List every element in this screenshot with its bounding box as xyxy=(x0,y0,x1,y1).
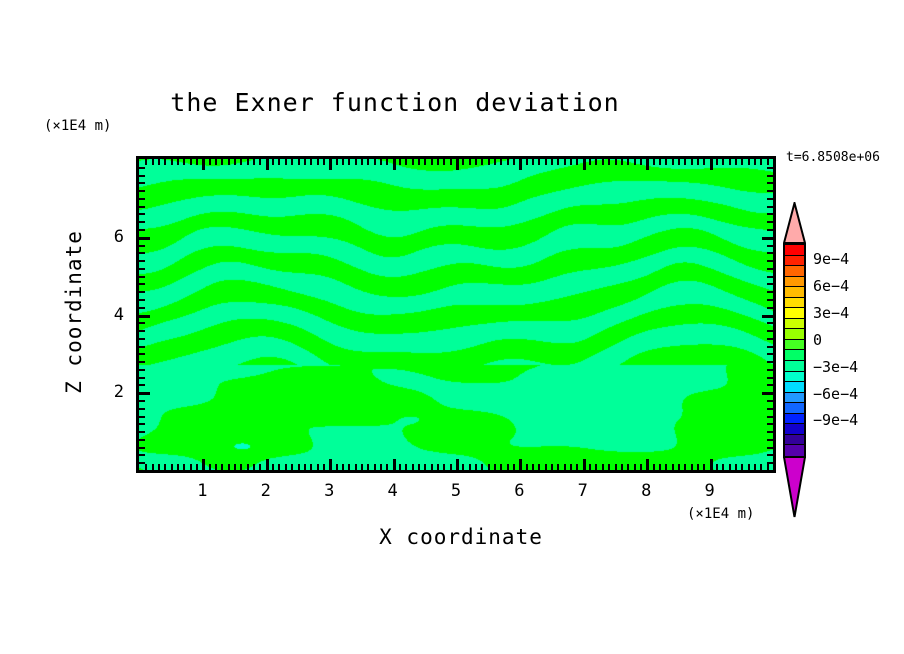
x-axis-top-tick xyxy=(253,159,255,165)
x-axis-top-tick xyxy=(450,159,452,165)
y-axis-right-tick xyxy=(767,447,773,449)
y-axis-right-tick xyxy=(767,198,773,200)
x-axis-minor-tick xyxy=(386,464,388,470)
y-axis-minor-tick xyxy=(139,439,145,441)
colorbar-segment xyxy=(785,287,804,298)
contour-field-canvas xyxy=(139,159,773,470)
colorbar xyxy=(783,243,806,458)
x-axis-top-tick xyxy=(209,159,211,165)
x-axis-top-tick xyxy=(494,159,496,165)
x-axis-top-tick xyxy=(215,159,217,165)
y-axis-minor-tick xyxy=(139,338,145,340)
x-axis-minor-tick xyxy=(253,464,255,470)
x-axis-top-tick xyxy=(190,159,192,165)
x-axis-minor-tick xyxy=(190,464,192,470)
x-axis-top-tick xyxy=(418,159,420,165)
y-axis-right-tick xyxy=(767,361,773,363)
x-axis-minor-tick xyxy=(240,464,242,470)
x-axis-minor-tick xyxy=(703,464,705,470)
colorbar-segment xyxy=(785,329,804,340)
y-axis-right-tick xyxy=(767,307,773,309)
x-axis-top-tick xyxy=(595,159,597,165)
x-axis-top-tick xyxy=(317,159,319,165)
x-axis-top-tick xyxy=(424,159,426,165)
x-axis-minor-tick xyxy=(342,464,344,470)
x-axis-top-tick xyxy=(564,159,566,165)
x-axis-minor-tick xyxy=(374,464,376,470)
x-axis-minor-tick xyxy=(196,464,198,470)
contour-plot-area xyxy=(136,156,776,473)
x-axis-top-tick xyxy=(760,159,762,165)
y-axis-minor-tick xyxy=(139,447,145,449)
colorbar-segment xyxy=(785,319,804,330)
x-axis-minor-tick xyxy=(405,464,407,470)
y-axis-unit-label: (×1E4 m) xyxy=(44,118,111,134)
y-axis-minor-tick xyxy=(139,307,145,309)
y-axis-minor-tick xyxy=(139,175,145,177)
y-axis-minor-tick xyxy=(139,213,145,215)
colorbar-segment xyxy=(785,414,804,425)
y-axis-right-tick xyxy=(767,377,773,379)
x-axis-title: X coordinate xyxy=(256,525,666,549)
x-axis-minor-tick xyxy=(538,464,540,470)
x-axis-top-tick xyxy=(355,159,357,165)
colorbar-segment xyxy=(785,372,804,383)
x-axis-top-tick xyxy=(234,159,236,165)
x-axis-minor-tick xyxy=(278,464,280,470)
x-axis-major-tick xyxy=(202,459,205,470)
x-axis-minor-tick xyxy=(576,464,578,470)
y-axis-right-tick xyxy=(767,283,773,285)
y-axis-minor-tick xyxy=(139,268,145,270)
y-axis-right-tick xyxy=(767,338,773,340)
x-axis-top-tick xyxy=(608,159,610,165)
x-axis-top-tick xyxy=(183,159,185,165)
x-axis-minor-tick xyxy=(513,464,515,470)
x-tick-label: 8 xyxy=(631,481,661,501)
x-axis-top-tick xyxy=(456,159,459,170)
x-axis-top-tick xyxy=(278,159,280,165)
x-axis-minor-tick xyxy=(469,464,471,470)
y-axis-major-tick xyxy=(139,237,150,240)
x-axis-top-tick xyxy=(589,159,591,165)
colorbar-segment xyxy=(785,266,804,277)
y-axis-right-tick xyxy=(767,213,773,215)
x-axis-minor-tick xyxy=(691,464,693,470)
y-axis-right-tick xyxy=(767,369,773,371)
x-axis-top-tick xyxy=(399,159,401,165)
x-axis-minor-tick xyxy=(545,464,547,470)
colorbar-tick-label: −9e−4 xyxy=(813,411,858,429)
y-axis-minor-tick xyxy=(139,400,145,402)
y-axis-right-tick xyxy=(767,423,773,425)
x-axis-top-tick xyxy=(672,159,674,165)
colorbar-bottom-cap-icon xyxy=(783,456,806,518)
x-axis-top-tick xyxy=(348,159,350,165)
y-axis-right-tick xyxy=(767,276,773,278)
x-axis-major-tick xyxy=(393,459,396,470)
x-axis-minor-tick xyxy=(551,464,553,470)
x-axis-top-tick xyxy=(545,159,547,165)
x-axis-minor-tick xyxy=(234,464,236,470)
y-axis-minor-tick xyxy=(139,384,145,386)
colorbar-segment xyxy=(785,340,804,351)
x-axis-minor-tick xyxy=(488,464,490,470)
y-axis-right-tick xyxy=(767,268,773,270)
y-axis-minor-tick xyxy=(139,346,145,348)
x-axis-minor-tick xyxy=(209,464,211,470)
y-axis-right-tick xyxy=(767,353,773,355)
y-axis-right-tick xyxy=(767,330,773,332)
x-axis-unit-label: (×1E4 m) xyxy=(687,506,754,522)
x-axis-major-tick xyxy=(583,459,586,470)
x-axis-top-tick xyxy=(684,159,686,165)
colorbar-segment xyxy=(785,277,804,288)
x-axis-top-tick xyxy=(221,159,223,165)
x-axis-top-tick xyxy=(538,159,540,165)
y-axis-right-tick xyxy=(767,431,773,433)
x-axis-minor-tick xyxy=(462,464,464,470)
x-axis-minor-tick xyxy=(557,464,559,470)
x-axis-minor-tick xyxy=(215,464,217,470)
y-axis-right-tick xyxy=(767,260,773,262)
x-axis-minor-tick xyxy=(729,464,731,470)
y-axis-minor-tick xyxy=(139,245,145,247)
y-axis-minor-tick xyxy=(139,252,145,254)
x-axis-top-tick xyxy=(342,159,344,165)
x-axis-top-tick xyxy=(691,159,693,165)
x-axis-minor-tick xyxy=(665,464,667,470)
colorbar-segment xyxy=(785,245,804,256)
y-axis-minor-tick xyxy=(139,221,145,223)
x-axis-top-tick xyxy=(481,159,483,165)
y-axis-right-tick xyxy=(762,392,773,395)
x-axis-major-tick xyxy=(456,459,459,470)
y-axis-right-tick xyxy=(762,237,773,240)
x-axis-minor-tick xyxy=(475,464,477,470)
y-axis-right-tick xyxy=(767,299,773,301)
colorbar-tick-label: 0 xyxy=(813,331,822,349)
x-axis-minor-tick xyxy=(672,464,674,470)
x-axis-top-tick xyxy=(247,159,249,165)
x-tick-label: 2 xyxy=(251,481,281,501)
colorbar-segment xyxy=(785,435,804,446)
x-axis-major-tick xyxy=(710,459,713,470)
x-axis-top-tick xyxy=(653,159,655,165)
x-axis-minor-tick xyxy=(608,464,610,470)
x-axis-top-tick xyxy=(602,159,604,165)
y-axis-minor-tick xyxy=(139,260,145,262)
x-axis-minor-tick xyxy=(164,464,166,470)
x-axis-minor-tick xyxy=(183,464,185,470)
y-axis-minor-tick xyxy=(139,167,145,169)
y-axis-major-tick xyxy=(139,315,150,318)
y-axis-minor-tick xyxy=(139,291,145,293)
x-axis-top-tick xyxy=(386,159,388,165)
x-axis-minor-tick xyxy=(659,464,661,470)
x-axis-minor-tick xyxy=(532,464,534,470)
x-axis-top-tick xyxy=(323,159,325,165)
x-axis-top-tick xyxy=(513,159,515,165)
colorbar-segment xyxy=(785,350,804,361)
x-axis-minor-tick xyxy=(767,464,769,470)
y-axis-minor-tick xyxy=(139,416,145,418)
colorbar-segment xyxy=(785,298,804,309)
x-axis-top-tick xyxy=(507,159,509,165)
colorbar-segment xyxy=(785,445,804,456)
colorbar-segment xyxy=(785,361,804,372)
x-axis-top-tick xyxy=(374,159,376,165)
y-axis-right-tick xyxy=(767,346,773,348)
x-axis-top-tick xyxy=(329,159,332,170)
x-axis-minor-tick xyxy=(310,464,312,470)
x-axis-minor-tick xyxy=(418,464,420,470)
y-axis-minor-tick xyxy=(139,408,145,410)
y-axis-title: Z coordinate xyxy=(62,212,86,412)
colorbar-segment xyxy=(785,424,804,435)
x-axis-minor-tick xyxy=(684,464,686,470)
x-axis-minor-tick xyxy=(494,464,496,470)
x-axis-top-tick xyxy=(551,159,553,165)
x-axis-top-tick xyxy=(621,159,623,165)
y-axis-right-tick xyxy=(767,229,773,231)
x-axis-major-tick xyxy=(646,459,649,470)
x-axis-top-tick xyxy=(240,159,242,165)
x-axis-top-tick xyxy=(298,159,300,165)
x-axis-top-tick xyxy=(228,159,230,165)
x-axis-minor-tick xyxy=(627,464,629,470)
y-axis-right-tick xyxy=(767,408,773,410)
x-axis-top-tick xyxy=(462,159,464,165)
x-axis-top-tick xyxy=(526,159,528,165)
x-axis-top-tick xyxy=(703,159,705,165)
x-axis-top-tick xyxy=(722,159,724,165)
x-axis-top-tick xyxy=(754,159,756,165)
y-axis-minor-tick xyxy=(139,377,145,379)
x-axis-top-tick xyxy=(640,159,642,165)
x-axis-minor-tick xyxy=(754,464,756,470)
x-axis-minor-tick xyxy=(259,464,261,470)
x-axis-minor-tick xyxy=(298,464,300,470)
y-axis-right-tick xyxy=(767,384,773,386)
x-axis-major-tick xyxy=(329,459,332,470)
x-axis-minor-tick xyxy=(564,464,566,470)
x-axis-top-tick xyxy=(488,159,490,165)
y-axis-minor-tick xyxy=(139,182,145,184)
x-axis-minor-tick xyxy=(653,464,655,470)
x-axis-minor-tick xyxy=(145,464,147,470)
colorbar-tick-label: −3e−4 xyxy=(813,358,858,376)
y-axis-minor-tick xyxy=(139,353,145,355)
x-axis-top-tick xyxy=(171,159,173,165)
y-axis-minor-tick xyxy=(139,206,145,208)
x-axis-top-tick xyxy=(393,159,396,170)
x-tick-label: 1 xyxy=(187,481,217,501)
x-axis-top-tick xyxy=(285,159,287,165)
y-axis-minor-tick xyxy=(139,283,145,285)
y-axis-minor-tick xyxy=(139,229,145,231)
x-axis-minor-tick xyxy=(228,464,230,470)
x-axis-minor-tick xyxy=(589,464,591,470)
x-axis-top-tick xyxy=(741,159,743,165)
x-axis-top-tick xyxy=(469,159,471,165)
x-tick-label: 4 xyxy=(378,481,408,501)
y-tick-label: 4 xyxy=(96,305,124,325)
y-axis-minor-tick xyxy=(139,330,145,332)
y-axis-minor-tick xyxy=(139,276,145,278)
x-axis-minor-tick xyxy=(367,464,369,470)
x-axis-minor-tick xyxy=(602,464,604,470)
y-tick-label: 2 xyxy=(96,382,124,402)
x-axis-top-tick xyxy=(646,159,649,170)
y-axis-right-tick xyxy=(767,245,773,247)
x-axis-top-tick xyxy=(443,159,445,165)
x-axis-top-tick xyxy=(380,159,382,165)
x-axis-minor-tick xyxy=(323,464,325,470)
y-axis-right-tick xyxy=(767,167,773,169)
x-axis-minor-tick xyxy=(437,464,439,470)
x-axis-top-tick xyxy=(431,159,433,165)
y-axis-major-tick xyxy=(139,392,150,395)
x-axis-top-tick xyxy=(310,159,312,165)
x-tick-label: 9 xyxy=(695,481,725,501)
x-axis-minor-tick xyxy=(336,464,338,470)
x-axis-major-tick xyxy=(266,459,269,470)
x-axis-minor-tick xyxy=(431,464,433,470)
x-axis-minor-tick xyxy=(760,464,762,470)
x-axis-minor-tick xyxy=(272,464,274,470)
x-axis-top-tick xyxy=(291,159,293,165)
y-axis-minor-tick xyxy=(139,431,145,433)
x-axis-top-tick xyxy=(627,159,629,165)
x-axis-minor-tick xyxy=(424,464,426,470)
x-axis-minor-tick xyxy=(748,464,750,470)
x-axis-top-tick xyxy=(177,159,179,165)
x-axis-minor-tick xyxy=(291,464,293,470)
x-axis-top-tick xyxy=(710,159,713,170)
x-axis-top-tick xyxy=(735,159,737,165)
x-axis-minor-tick xyxy=(507,464,509,470)
x-axis-top-tick xyxy=(272,159,274,165)
colorbar-segment xyxy=(785,256,804,267)
x-axis-top-tick xyxy=(367,159,369,165)
x-axis-top-tick xyxy=(576,159,578,165)
x-tick-label: 3 xyxy=(314,481,344,501)
x-axis-top-tick xyxy=(716,159,718,165)
x-axis-top-tick xyxy=(259,159,261,165)
y-axis-minor-tick xyxy=(139,299,145,301)
x-axis-top-tick xyxy=(361,159,363,165)
x-axis-top-tick xyxy=(437,159,439,165)
x-axis-top-tick xyxy=(336,159,338,165)
x-axis-top-tick xyxy=(557,159,559,165)
x-axis-top-tick xyxy=(678,159,680,165)
x-axis-minor-tick xyxy=(526,464,528,470)
x-axis-minor-tick xyxy=(615,464,617,470)
x-axis-minor-tick xyxy=(285,464,287,470)
y-axis-right-tick xyxy=(767,182,773,184)
x-axis-top-tick xyxy=(475,159,477,165)
x-axis-minor-tick xyxy=(500,464,502,470)
x-axis-top-tick xyxy=(266,159,269,170)
x-axis-minor-tick xyxy=(697,464,699,470)
y-axis-right-tick xyxy=(767,190,773,192)
y-axis-right-tick xyxy=(767,322,773,324)
x-axis-minor-tick xyxy=(716,464,718,470)
x-axis-top-tick xyxy=(196,159,198,165)
x-axis-minor-tick xyxy=(450,464,452,470)
x-axis-minor-tick xyxy=(443,464,445,470)
x-axis-minor-tick xyxy=(177,464,179,470)
y-axis-right-tick xyxy=(767,462,773,464)
x-axis-top-tick xyxy=(145,159,147,165)
x-axis-minor-tick xyxy=(735,464,737,470)
x-axis-minor-tick xyxy=(304,464,306,470)
y-axis-right-tick xyxy=(767,252,773,254)
colorbar-tick-label: 6e−4 xyxy=(813,277,849,295)
x-axis-top-tick xyxy=(532,159,534,165)
y-axis-minor-tick xyxy=(139,423,145,425)
x-axis-minor-tick xyxy=(152,464,154,470)
x-axis-top-tick xyxy=(729,159,731,165)
x-axis-top-tick xyxy=(697,159,699,165)
colorbar-top-cap-icon xyxy=(783,202,806,244)
x-axis-minor-tick xyxy=(621,464,623,470)
x-axis-minor-tick xyxy=(722,464,724,470)
x-axis-minor-tick xyxy=(678,464,680,470)
x-axis-top-tick xyxy=(519,159,522,170)
colorbar-tick-label: 3e−4 xyxy=(813,304,849,322)
x-axis-major-tick xyxy=(519,459,522,470)
y-axis-right-tick xyxy=(767,454,773,456)
x-axis-top-tick xyxy=(583,159,586,170)
colorbar-tick-label: 9e−4 xyxy=(813,250,849,268)
x-axis-top-tick xyxy=(500,159,502,165)
y-axis-right-tick xyxy=(767,175,773,177)
x-axis-minor-tick xyxy=(634,464,636,470)
x-tick-label: 7 xyxy=(568,481,598,501)
y-axis-minor-tick xyxy=(139,369,145,371)
timestamp-annotation: t=6.8508e+06 xyxy=(786,150,880,165)
x-axis-minor-tick xyxy=(640,464,642,470)
x-axis-top-tick xyxy=(748,159,750,165)
x-axis-minor-tick xyxy=(171,464,173,470)
x-axis-minor-tick xyxy=(399,464,401,470)
x-axis-minor-tick xyxy=(348,464,350,470)
colorbar-tick-label: −6e−4 xyxy=(813,385,858,403)
colorbar-segment xyxy=(785,382,804,393)
y-axis-minor-tick xyxy=(139,361,145,363)
colorbar-segment xyxy=(785,308,804,319)
y-axis-minor-tick xyxy=(139,462,145,464)
x-axis-top-tick xyxy=(304,159,306,165)
x-axis-top-tick xyxy=(158,159,160,165)
y-axis-minor-tick xyxy=(139,190,145,192)
x-axis-top-tick xyxy=(152,159,154,165)
y-axis-right-tick xyxy=(762,315,773,318)
page-title: the Exner function deviation xyxy=(0,88,790,117)
x-axis-top-tick xyxy=(665,159,667,165)
x-axis-minor-tick xyxy=(221,464,223,470)
y-axis-right-tick xyxy=(767,206,773,208)
y-axis-right-tick xyxy=(767,416,773,418)
y-tick-label: 6 xyxy=(96,227,124,247)
x-axis-top-tick xyxy=(615,159,617,165)
y-axis-right-tick xyxy=(767,221,773,223)
colorbar-segment xyxy=(785,403,804,414)
x-axis-top-tick xyxy=(659,159,661,165)
x-axis-minor-tick xyxy=(247,464,249,470)
